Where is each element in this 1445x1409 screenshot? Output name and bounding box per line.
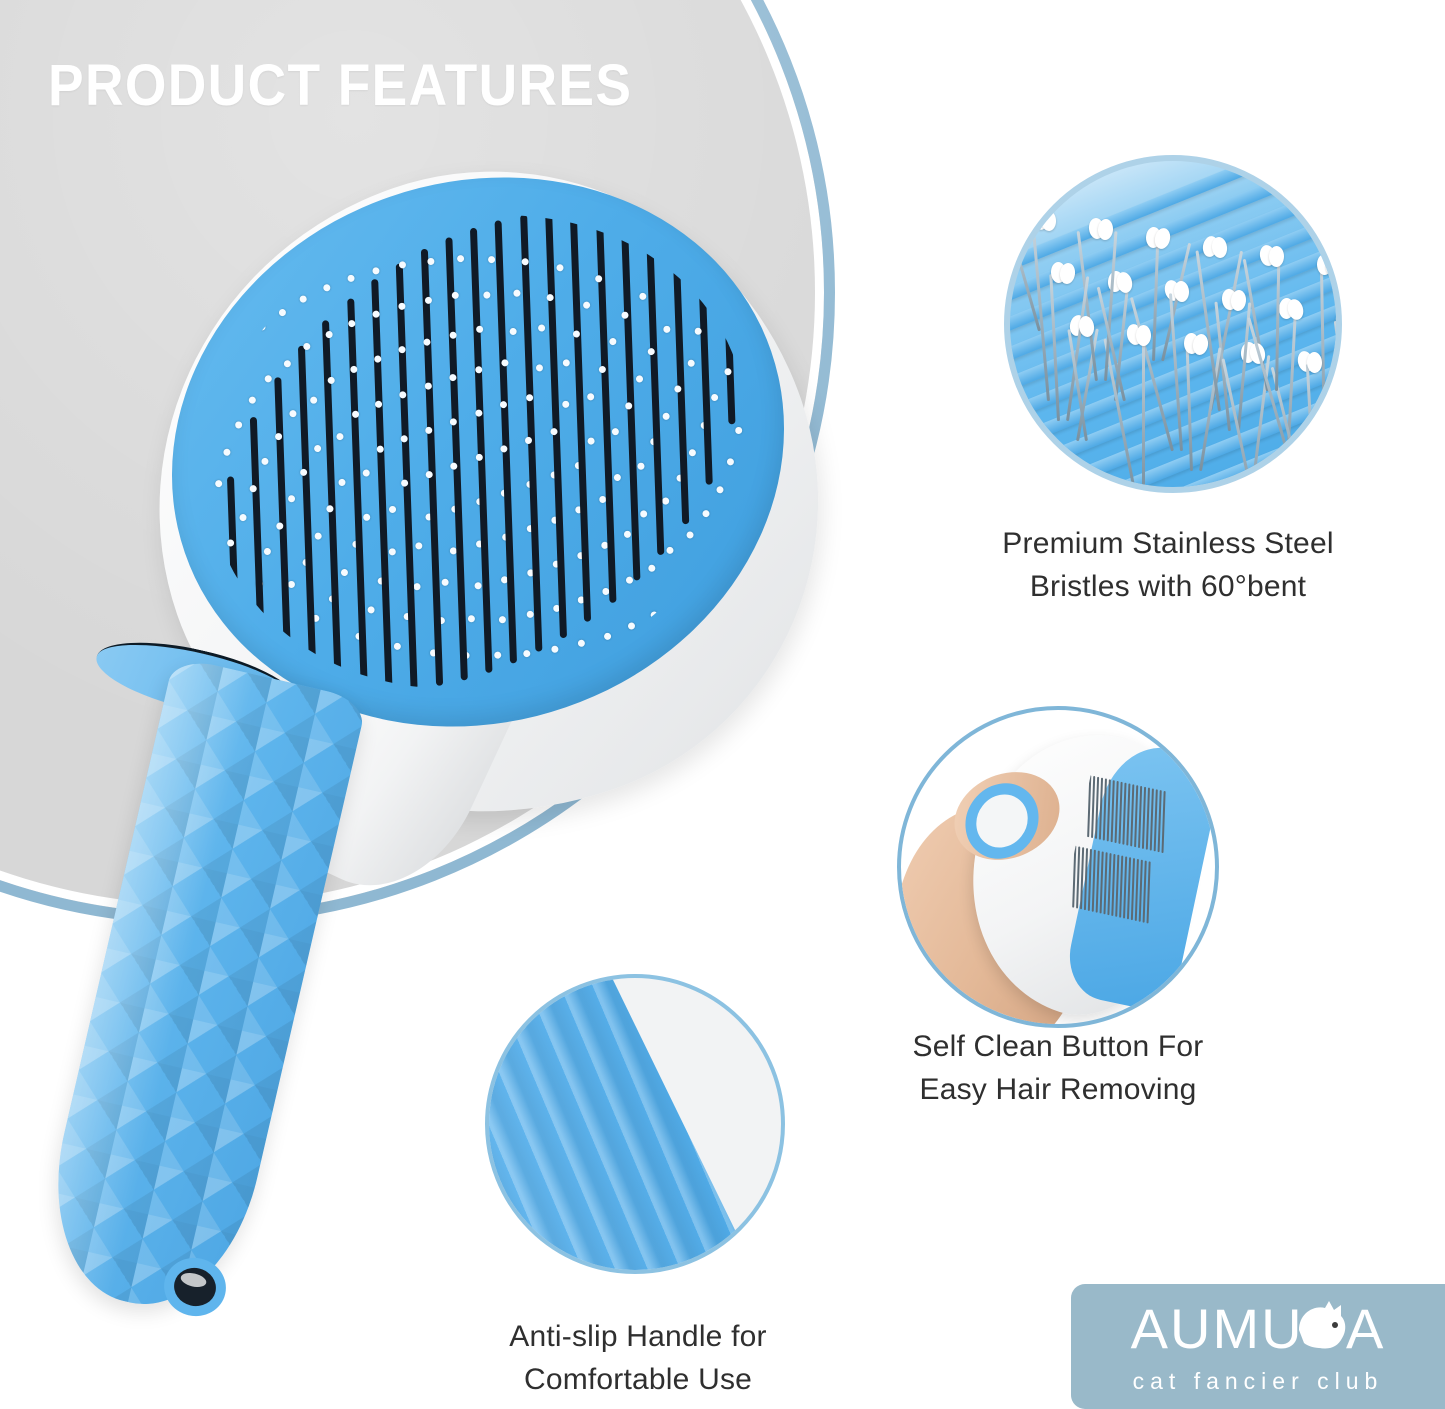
page-title: PRODUCT FEATURES [48,52,632,119]
caption-line-2: Easy Hair Removing [838,1069,1278,1112]
cat-head-icon [1289,1300,1349,1356]
feature-caption-self-clean: Self Clean Button For Easy Hair Removing [838,1026,1278,1111]
caption-line-1: Self Clean Button For [838,1026,1278,1069]
feature-image-handle-texture [485,974,785,1274]
caption-line-1: Anti-slip Handle for [418,1316,858,1359]
brand-tagline: cat fancier club [1071,1368,1445,1395]
feature-image-bristles [1004,155,1342,493]
caption-line-1: Premium Stainless Steel [948,523,1388,566]
feature-caption-bristles: Premium Stainless Steel Bristles with 60… [948,523,1388,608]
feature-image-self-clean [897,706,1219,1028]
brand-logo: AUMUCA cat fancier club [1071,1284,1445,1409]
handle-texture-band [485,974,750,1274]
caption-line-2: Bristles with 60°bent [948,566,1388,609]
brush-handle [31,656,368,1324]
brand-wordmark: AUMUCA [1071,1296,1445,1361]
caption-line-2: Comfortable Use [418,1359,858,1402]
feature-caption-handle: Anti-slip Handle for Comfortable Use [418,1316,858,1401]
